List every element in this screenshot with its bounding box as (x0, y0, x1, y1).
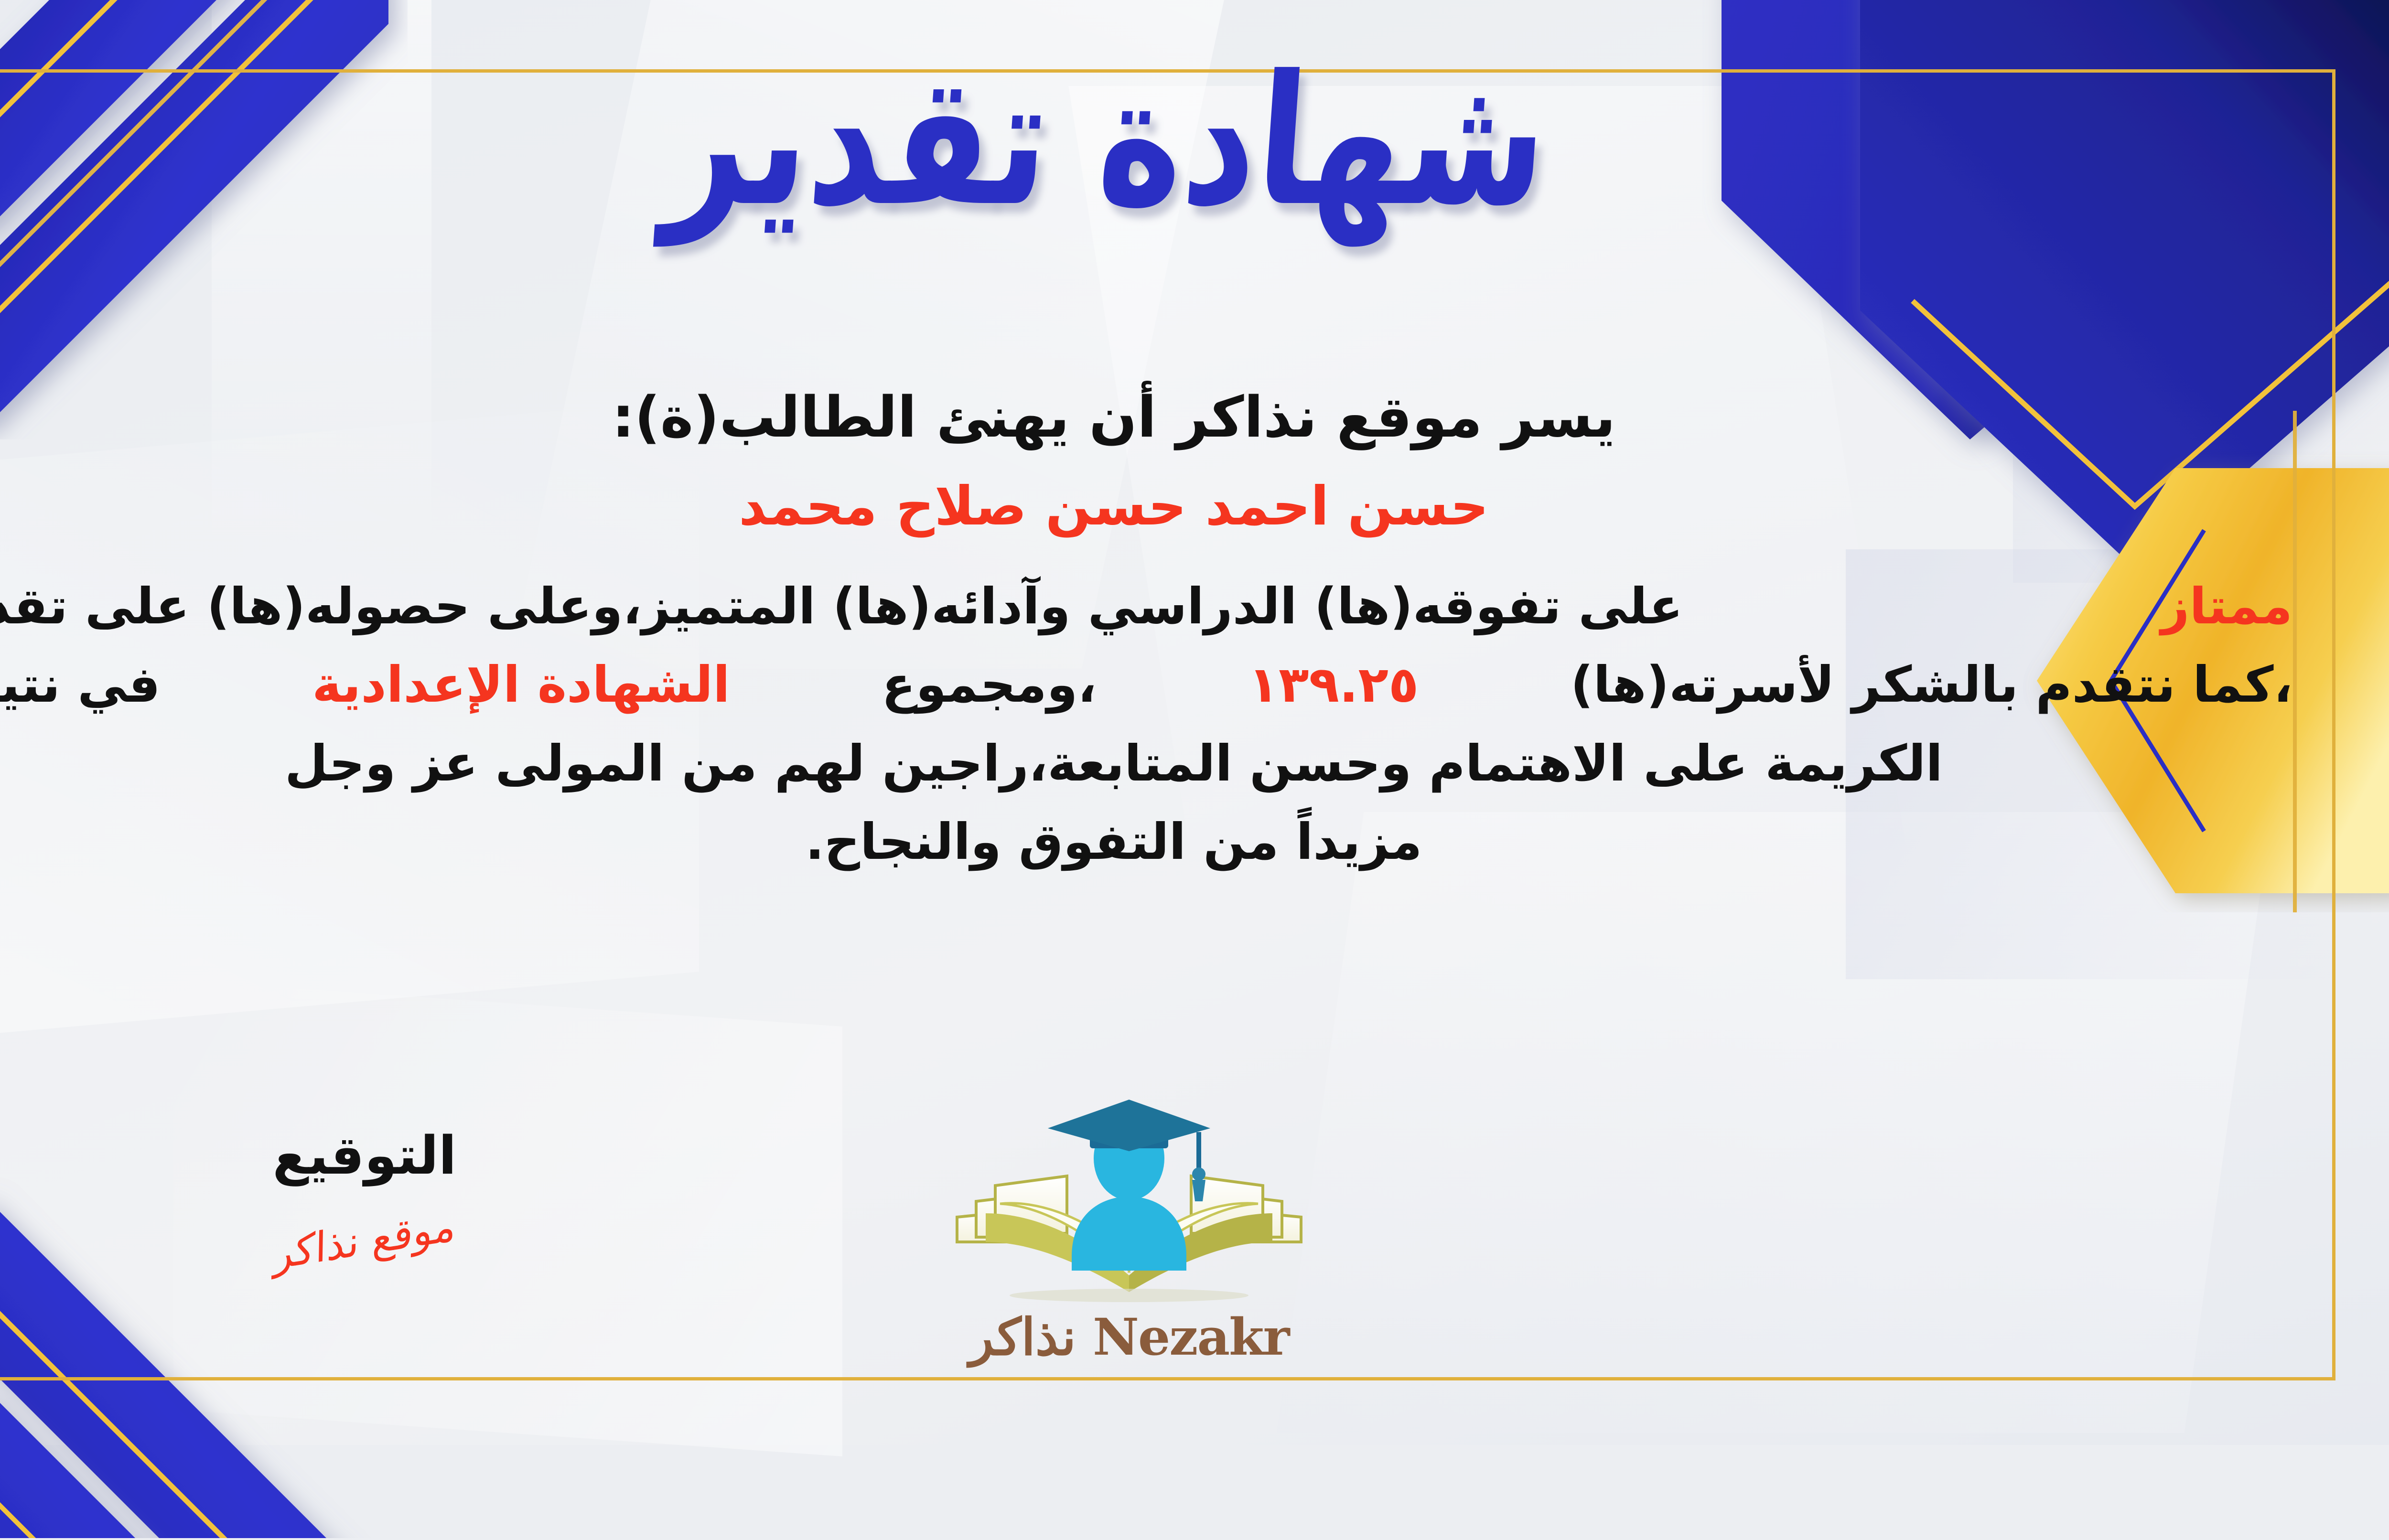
page-title: شهادة تقدير (659, 38, 1554, 244)
paragraph-line-2-right: في نتيجة (0, 645, 161, 724)
signature-label: التوقيع (231, 1125, 498, 1186)
total-score-value: ١٣٩.٢٥ (1248, 645, 1419, 724)
paragraph-line-1: ممتاز على تفوقه(ها) الدراسي وآدائه(ها) ا… (0, 567, 2302, 645)
intro-line: يسر موقع نذاكر أن يهنئ الطالب(ة): (0, 382, 2335, 453)
certificate-body: يسر موقع نذاكر أن يهنئ الطالب(ة): حسن اح… (0, 382, 2335, 881)
certificate-paragraph: ممتاز على تفوقه(ها) الدراسي وآدائه(ها) ا… (0, 567, 2335, 881)
graduate-book-icon (928, 1099, 1330, 1309)
paragraph-line-2: ،كما نتقدم بالشكر لأسرته(ها) ١٣٩.٢٥ ،ومج… (0, 645, 2302, 724)
certificate-title-wrap: شهادة تقدير (0, 38, 2389, 203)
student-name: حسن احمد حسن صلاح محمد (0, 472, 2335, 542)
paragraph-line-3: الكريمة على الاهتمام وحسن المتابعة،راجين… (0, 724, 2302, 802)
signature-area: التوقيع موقع نذاكر (231, 1125, 498, 1264)
paragraph-line-2-left: ،كما نتقدم بالشكر لأسرته(ها) (1571, 645, 2292, 724)
brand-logo: Nezakr نذاكر (928, 1099, 1330, 1395)
exam-name-value: الشهادة الإعدادية (312, 645, 730, 724)
grade-value: ممتاز (2161, 567, 2293, 645)
paragraph-line-1-text: على تفوقه(ها) الدراسي وآدائه(ها) المتميز… (0, 567, 1683, 645)
brand-logo-text: Nezakr نذاكر (928, 1307, 1330, 1367)
paragraph-line-4: مزيداً من التفوق والنجاح. (0, 802, 2302, 881)
paragraph-line-2-mid: ،ومجموع (882, 645, 1096, 724)
